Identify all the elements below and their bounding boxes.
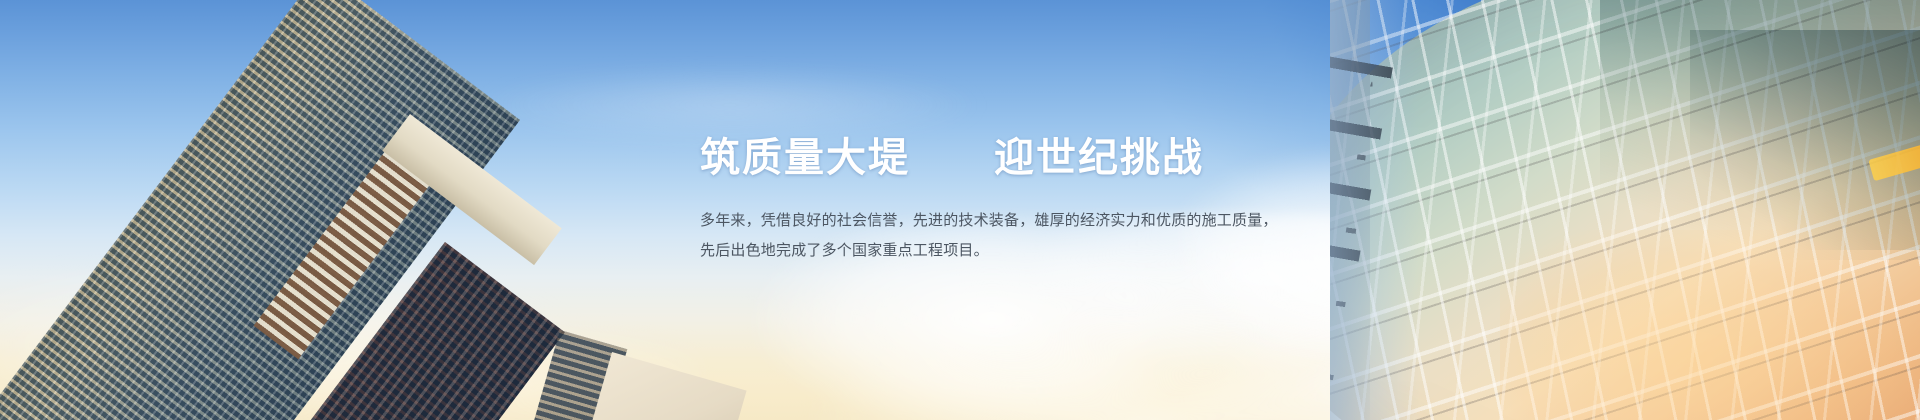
banner-subtitle: 多年来，凭借良好的社会信誉，先进的技术装备，雄厚的经济实力和优质的施工质量， 先… (700, 206, 1340, 266)
banner-headline: 筑质量大堤 迎世纪挑战 (700, 132, 1340, 184)
hero-banner: 筑质量大堤 迎世纪挑战 多年来，凭借良好的社会信誉，先进的技术装备，雄厚的经济实… (0, 0, 1920, 420)
banner-subtitle-line-1: 多年来，凭借良好的社会信誉，先进的技术装备，雄厚的经济实力和优质的施工质量， (700, 206, 1340, 236)
right-tower-glass-reflection-inner (1690, 30, 1920, 250)
right-tower-edge-fade (1330, 0, 1420, 420)
banner-copy: 筑质量大堤 迎世纪挑战 多年来，凭借良好的社会信誉，先进的技术装备，雄厚的经济实… (700, 132, 1340, 266)
right-curved-glass-tower (1330, 0, 1920, 420)
banner-subtitle-line-2: 先后出色地完成了多个国家重点工程项目。 (700, 236, 1340, 266)
right-tower-sunset-glow (1500, 230, 1920, 420)
